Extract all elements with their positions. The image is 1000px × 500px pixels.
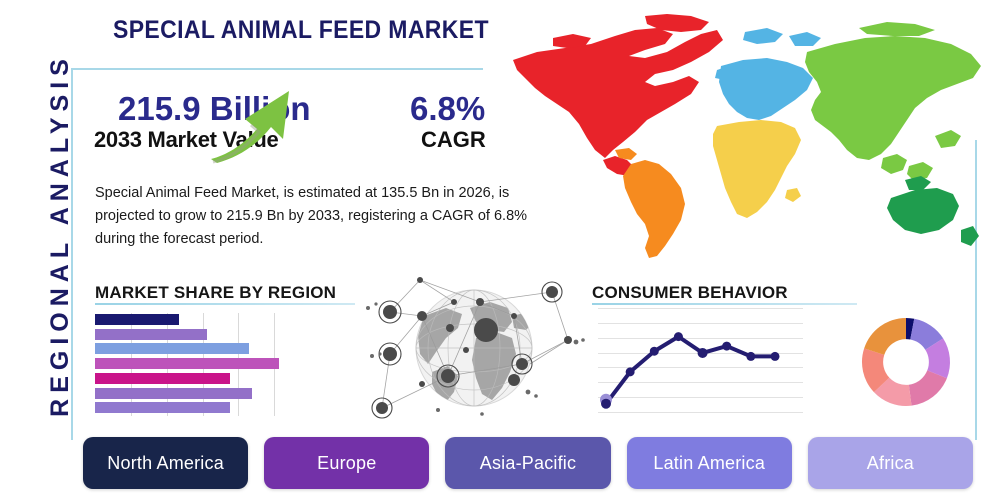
donut-chart-segment <box>864 318 906 355</box>
line-chart-marker <box>771 352 780 361</box>
heading-market-share: MARKET SHARE BY REGION <box>95 283 336 303</box>
region-button-latin-america[interactable]: Latin America <box>627 437 792 489</box>
bar-chart-bar <box>95 343 310 354</box>
bar-chart-bar-fill <box>95 343 249 354</box>
infographic-canvas: REGIONAL ANALYSIS SPECIAL ANIMAL FEED MA… <box>0 0 1000 500</box>
heading-consumer-behavior-rule <box>592 303 857 305</box>
line-chart-marker <box>746 352 755 361</box>
region-button-group: North AmericaEuropeAsia-PacificLatin Ame… <box>83 437 973 489</box>
region-button-north-america[interactable]: North America <box>83 437 248 489</box>
heading-market-share-rule <box>95 303 355 305</box>
map-region-oceania <box>887 176 979 246</box>
world-map-icon <box>495 8 990 266</box>
donut-chart-plot <box>852 308 960 416</box>
bar-chart-bar <box>95 314 310 325</box>
line-chart-plot <box>598 308 803 416</box>
bar-chart-bar <box>95 388 310 399</box>
bar-chart-bar-fill <box>95 358 279 369</box>
bar-chart-bar-fill <box>95 388 252 399</box>
line-chart-marker <box>626 367 635 376</box>
hero-cagr-label: CAGR <box>421 127 486 153</box>
globe-network-icon <box>362 268 587 428</box>
map-region-asia <box>805 22 981 180</box>
region-button-asia-pacific[interactable]: Asia-Pacific <box>445 437 610 489</box>
heading-consumer-behavior: CONSUMER BEHAVIOR <box>592 283 788 303</box>
page-title: SPECIAL ANIMAL FEED MARKET <box>113 16 489 45</box>
panel-top-border <box>71 68 483 70</box>
hero-cagr-value: 6.8% <box>410 90 485 128</box>
region-button-africa[interactable]: Africa <box>808 437 973 489</box>
consumer-donut-chart <box>852 308 960 416</box>
map-region-africa <box>713 120 801 218</box>
line-chart-marker <box>601 399 611 409</box>
panel-left-border <box>71 68 73 440</box>
line-chart-marker <box>674 332 683 341</box>
consumer-behavior-line-chart <box>598 308 803 416</box>
line-chart-marker <box>650 347 659 356</box>
side-label-regional-analysis: REGIONAL ANALYSIS <box>40 50 80 420</box>
market-description: Special Animal Feed Market, is estimated… <box>95 182 565 251</box>
bar-chart-bar <box>95 373 310 384</box>
bar-chart-bar-fill <box>95 373 230 384</box>
bar-chart-bar <box>95 402 310 413</box>
bar-chart-bar-fill <box>95 314 179 325</box>
bar-chart-bar <box>95 358 310 369</box>
bar-chart-bar-fill <box>95 329 207 340</box>
bar-chart-bar-fill <box>95 402 230 413</box>
map-region-europe <box>715 28 821 120</box>
bar-chart-bar <box>95 329 310 340</box>
growth-arrow-icon <box>205 85 315 165</box>
market-share-bar-chart <box>95 313 310 416</box>
line-chart-marker <box>698 348 708 358</box>
region-button-europe[interactable]: Europe <box>264 437 429 489</box>
line-chart-marker <box>722 342 731 351</box>
